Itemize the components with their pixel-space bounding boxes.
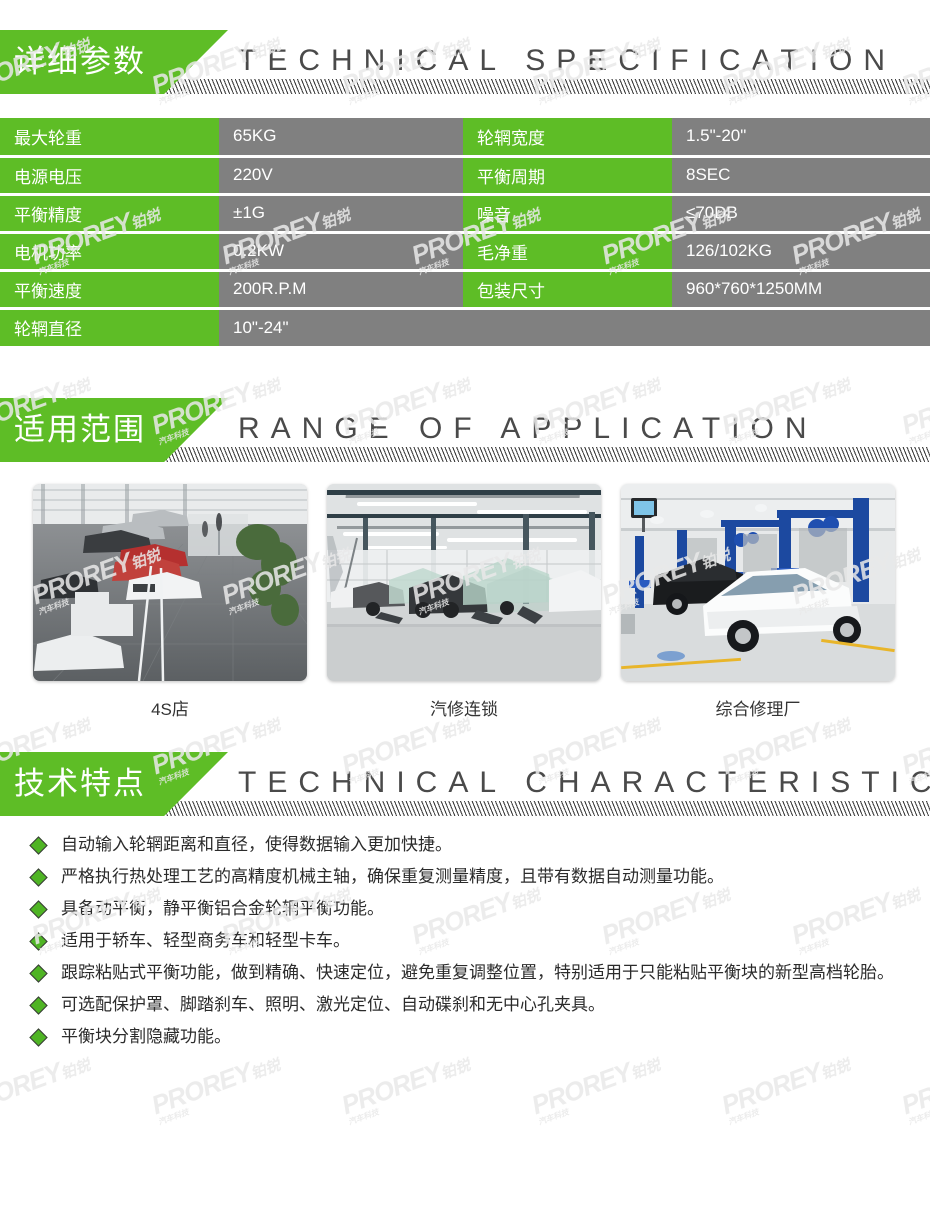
section-title-cn: 技术特点 — [14, 752, 146, 816]
diamond-bullet-icon — [29, 836, 47, 854]
section-title-en: TECHNICAL CHARACTERISTICS — [238, 752, 930, 810]
diamond-bullet-icon — [29, 900, 47, 918]
car-dealership-showroom-photo — [33, 484, 307, 681]
brand-watermark: PROREY铂锐汽车科技 — [718, 1048, 856, 1127]
spec-value: 10"-24" — [219, 308, 930, 346]
spec-value: 65KG — [219, 118, 463, 156]
general-repair-garage-photo — [621, 484, 895, 681]
spec-value: 1.5"-20" — [672, 118, 930, 156]
diamond-bullet-icon — [29, 1028, 47, 1046]
auto-repair-chain-workshop-photo — [327, 484, 601, 681]
spec-value: 960*760*1250MM — [672, 270, 930, 308]
table-row: 电机功率 0.2KW 毛净重 126/102KG — [0, 232, 930, 270]
application-card: 汽修连锁 — [327, 484, 601, 720]
application-caption: 综合修理厂 — [621, 695, 895, 720]
table-row: 轮辋直径 10"-24" — [0, 308, 930, 346]
spec-label: 噪音 — [463, 194, 672, 232]
section-header-technical-characteristics: 技术特点 TECHNICAL CHARACTERISTICS — [0, 752, 930, 816]
spec-label: 平衡速度 — [0, 270, 219, 308]
brand-watermark: PROREY铂锐汽车科技 — [148, 1048, 286, 1127]
feature-text: 跟踪粘贴式平衡功能，做到精确、快速定位，避免重复调整位置，特别适用于只能粘贴平衡… — [61, 958, 906, 988]
application-gallery: 4S店 — [0, 462, 930, 720]
feature-text: 可选配保护罩、脚踏刹车、照明、激光定位、自动碟刹和无中心孔夹具。 — [61, 990, 906, 1020]
spec-value: 220V — [219, 156, 463, 194]
spec-label: 毛净重 — [463, 232, 672, 270]
brand-watermark: PROREY铂锐汽车科技 — [338, 1048, 476, 1127]
spec-label: 最大轮重 — [0, 118, 219, 156]
diamond-bullet-icon — [29, 996, 47, 1014]
list-item: 跟踪粘贴式平衡功能，做到精确、快速定位，避免重复调整位置，特别适用于只能粘贴平衡… — [26, 958, 906, 988]
diamond-bullet-icon — [29, 964, 47, 982]
list-item: 可选配保护罩、脚踏刹车、照明、激光定位、自动碟刹和无中心孔夹具。 — [26, 990, 906, 1020]
feature-text: 自动输入轮辋距离和直径，使得数据输入更加快捷。 — [61, 830, 906, 860]
brand-watermark: PROREY铂锐汽车科技 — [898, 1048, 930, 1127]
spec-value: 200R.P.M — [219, 270, 463, 308]
feature-text: 适用于轿车、轻型商务车和轻型卡车。 — [61, 926, 906, 956]
spec-label: 平衡精度 — [0, 194, 219, 232]
section-header-technical-specification: 详细参数 TECHNICAL SPECIFICATION — [0, 30, 930, 94]
specification-table: 最大轮重 65KG 轮辋宽度 1.5"-20" 电源电压 220V 平衡周期 8… — [0, 118, 930, 346]
diamond-bullet-icon — [29, 932, 47, 950]
application-card: 4S店 — [33, 484, 307, 720]
spec-label: 电源电压 — [0, 156, 219, 194]
spec-label: 轮辋直径 — [0, 308, 219, 346]
spec-value: ±1G — [219, 194, 463, 232]
list-item: 严格执行热处理工艺的高精度机械主轴，确保重复测量精度，且带有数据自动测量功能。 — [26, 862, 906, 892]
feature-list: 自动输入轮辋距离和直径，使得数据输入更加快捷。 严格执行热处理工艺的高精度机械主… — [0, 816, 930, 1052]
list-item: 自动输入轮辋距离和直径，使得数据输入更加快捷。 — [26, 830, 906, 860]
spec-label: 轮辋宽度 — [463, 118, 672, 156]
list-item: 具备动平衡，静平衡铝合金轮辋平衡功能。 — [26, 894, 906, 924]
feature-text: 严格执行热处理工艺的高精度机械主轴，确保重复测量精度，且带有数据自动测量功能。 — [61, 862, 906, 892]
section-title-cn: 适用范围 — [14, 398, 146, 462]
feature-text: 具备动平衡，静平衡铝合金轮辋平衡功能。 — [61, 894, 906, 924]
list-item: 平衡块分割隐藏功能。 — [26, 1022, 906, 1052]
application-caption: 4S店 — [33, 695, 307, 720]
section-title-en: TECHNICAL SPECIFICATION — [238, 30, 896, 88]
spec-label: 包装尺寸 — [463, 270, 672, 308]
table-row: 平衡精度 ±1G 噪音 ≤70DB — [0, 194, 930, 232]
table-row: 平衡速度 200R.P.M 包装尺寸 960*760*1250MM — [0, 270, 930, 308]
section-title-cn: 详细参数 — [14, 30, 146, 94]
section-title-en: RANGE OF APPLICATION — [238, 398, 818, 456]
table-row: 电源电压 220V 平衡周期 8SEC — [0, 156, 930, 194]
application-caption: 汽修连锁 — [327, 695, 601, 720]
table-row: 最大轮重 65KG 轮辋宽度 1.5"-20" — [0, 118, 930, 156]
spec-value: 0.2KW — [219, 232, 463, 270]
spec-value: 8SEC — [672, 156, 930, 194]
feature-text: 平衡块分割隐藏功能。 — [61, 1022, 906, 1052]
brand-watermark: PROREY铂锐汽车科技 — [528, 1048, 666, 1127]
brand-watermark: PROREY铂锐汽车科技 — [0, 1048, 96, 1127]
spec-value: ≤70DB — [672, 194, 930, 232]
spec-label: 平衡周期 — [463, 156, 672, 194]
diamond-bullet-icon — [29, 868, 47, 886]
list-item: 适用于轿车、轻型商务车和轻型卡车。 — [26, 926, 906, 956]
section-header-range-of-application: 适用范围 RANGE OF APPLICATION — [0, 398, 930, 462]
spec-label: 电机功率 — [0, 232, 219, 270]
spec-value: 126/102KG — [672, 232, 930, 270]
application-card: 综合修理厂 — [621, 484, 895, 720]
